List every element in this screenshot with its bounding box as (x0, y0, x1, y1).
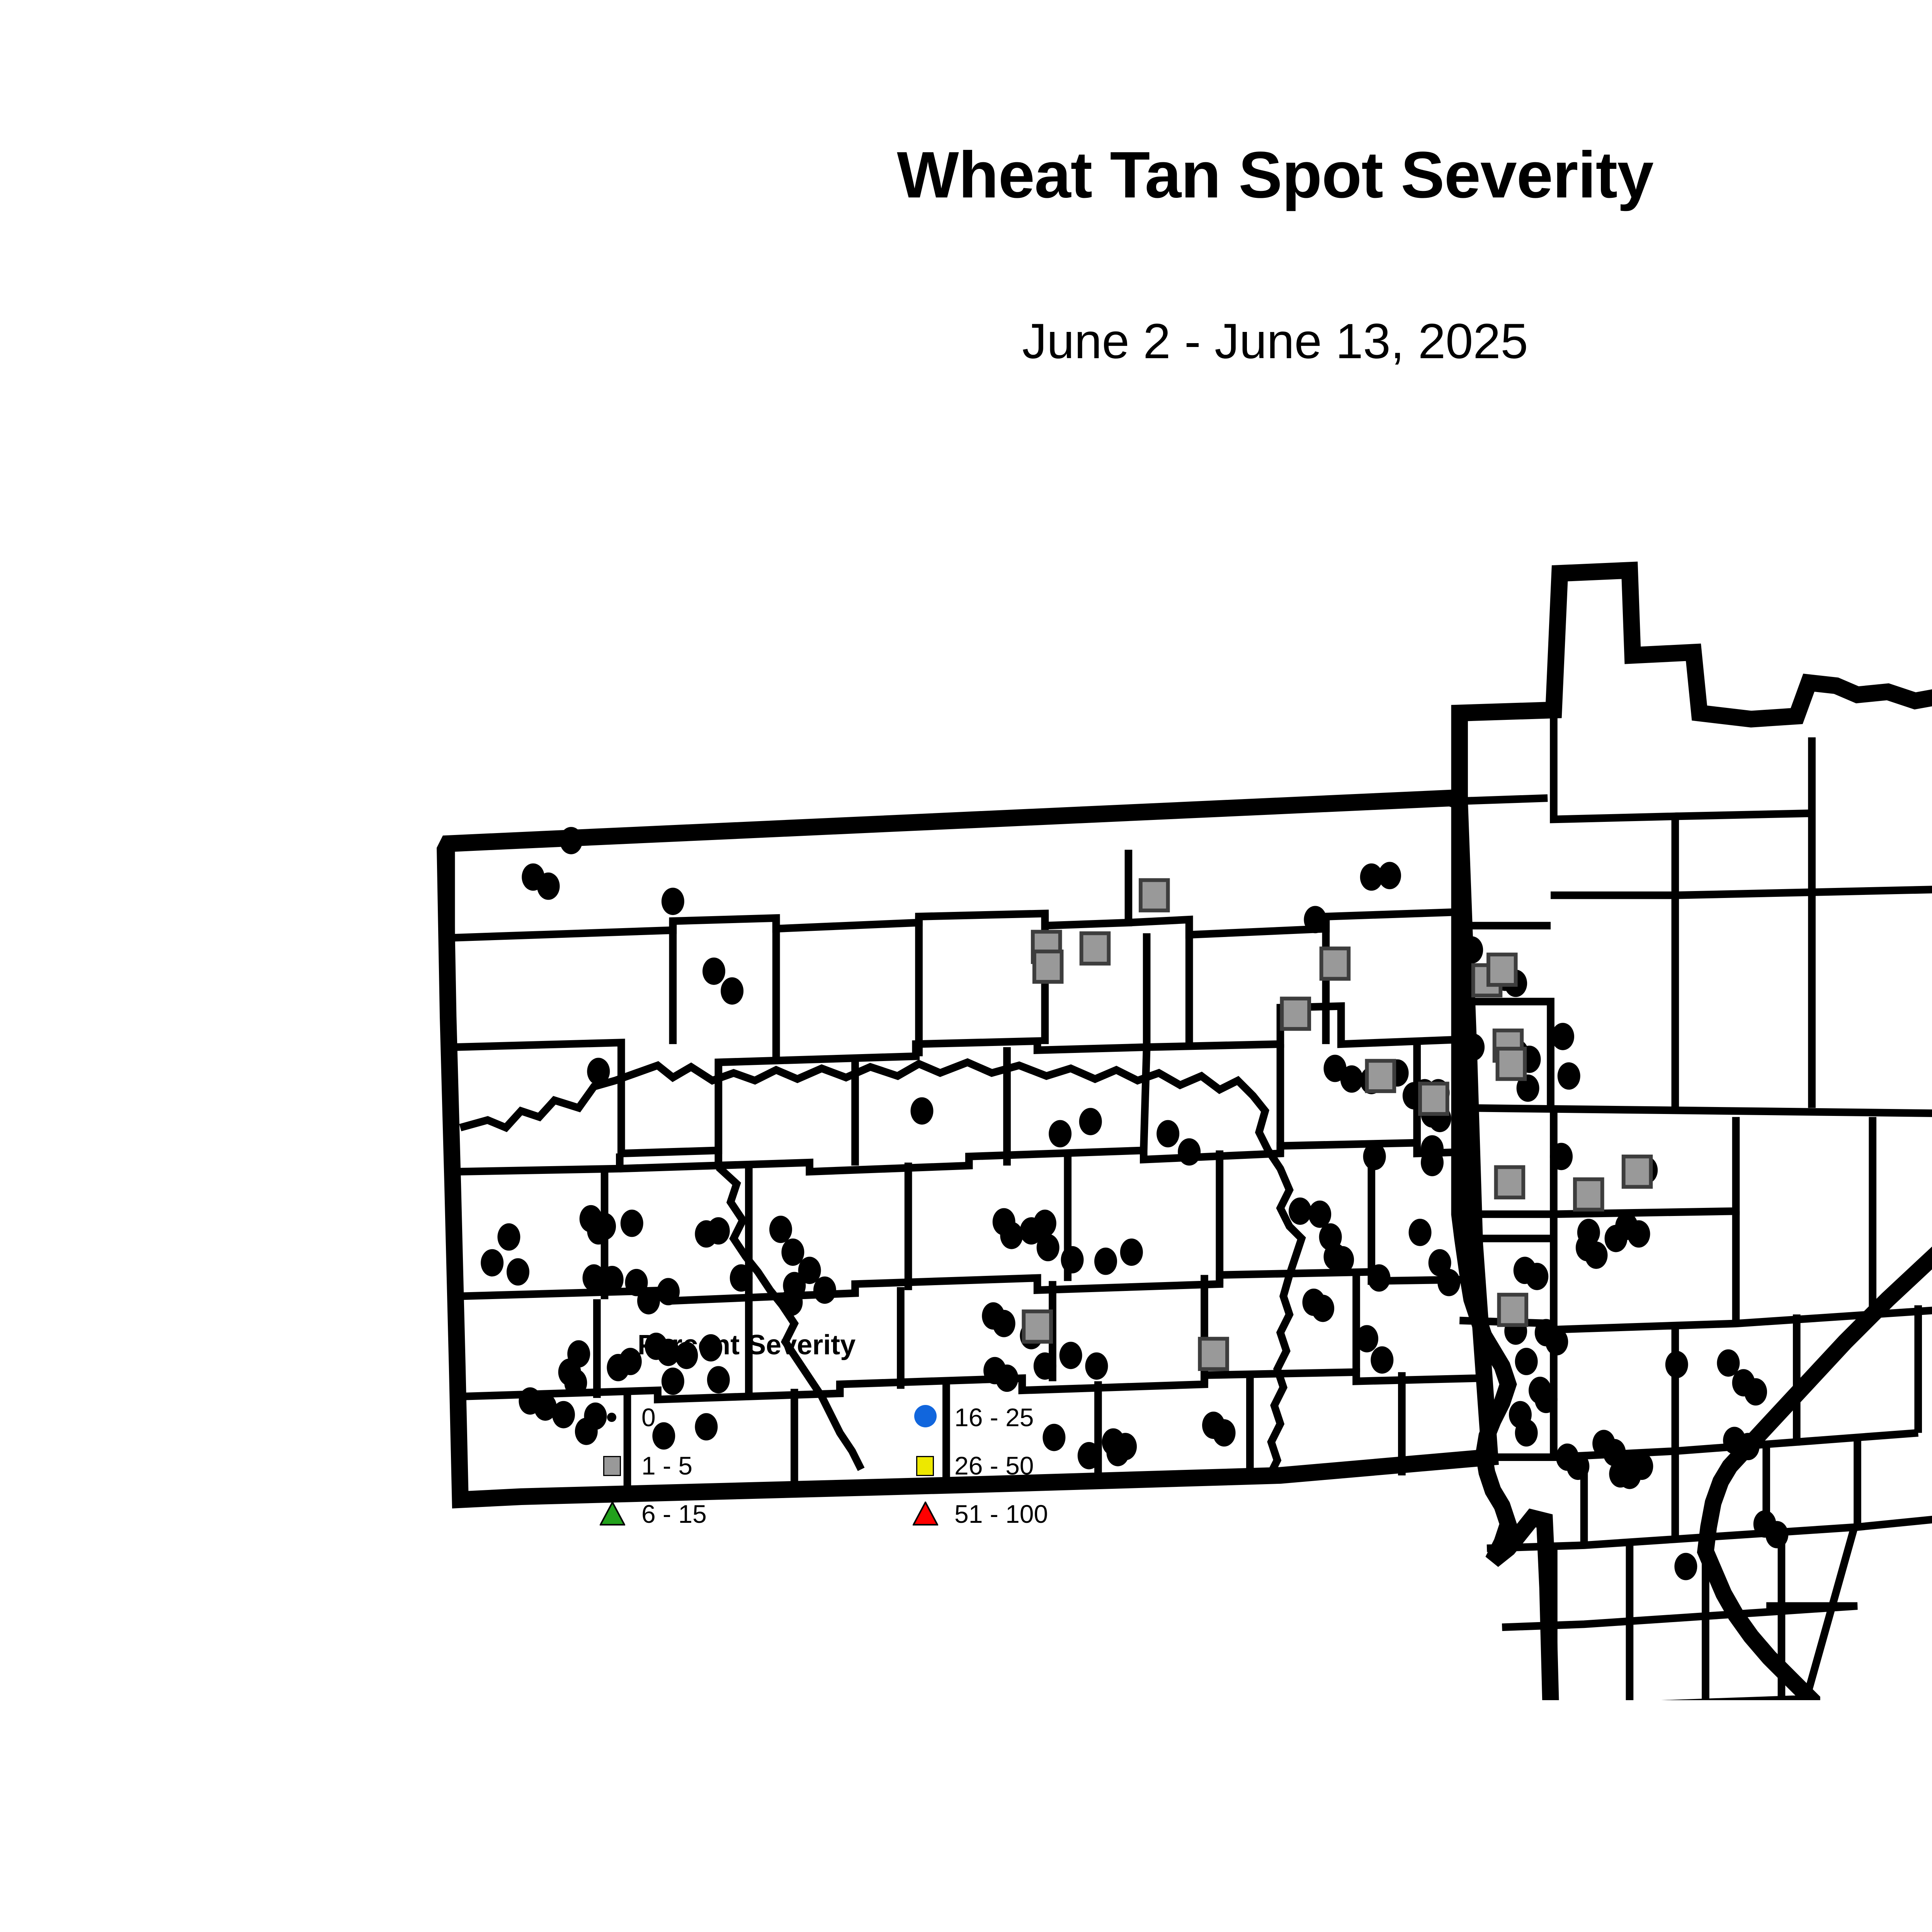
map-point-0[interactable] (1037, 1234, 1060, 1261)
map-point-0[interactable] (1156, 1120, 1179, 1148)
map-point-0[interactable] (481, 1249, 503, 1277)
map-point-0[interactable] (1409, 1219, 1432, 1246)
map-point-0[interactable] (522, 863, 544, 891)
map-point-0[interactable] (601, 1266, 624, 1293)
map-point-0[interactable] (657, 1278, 680, 1305)
map-point-0[interactable] (1304, 906, 1327, 933)
map-point-0[interactable] (1437, 1269, 1460, 1296)
legend-item-26-50[interactable]: 26 - 50 (904, 1441, 1048, 1490)
map-point-0[interactable] (1585, 1242, 1608, 1269)
map-point-1-5[interactable] (1420, 1083, 1447, 1114)
map-point-0[interactable] (1367, 1264, 1390, 1292)
map-point-0[interactable] (1535, 1386, 1558, 1413)
map-point-0[interactable] (1551, 1023, 1574, 1050)
map-point-1-5[interactable] (1367, 1061, 1395, 1091)
map-point-1-5[interactable] (1496, 1167, 1524, 1197)
map-point-0[interactable] (1421, 1149, 1444, 1176)
map-point-0[interactable] (1665, 1351, 1688, 1378)
map-point-0[interactable] (1558, 1062, 1580, 1090)
map-point-0[interactable] (507, 1258, 529, 1286)
map-point-0[interactable] (1340, 1065, 1363, 1093)
legend-label-6-15: 6 - 15 (641, 1499, 707, 1529)
map-point-0[interactable] (721, 977, 743, 1005)
map-point-1-5[interactable] (1082, 933, 1109, 964)
map-point-1-5[interactable] (1499, 1295, 1526, 1325)
legend-item-0[interactable]: 0 (591, 1393, 707, 1441)
map-point-0[interactable] (662, 888, 684, 915)
legend-label-26-50: 26 - 50 (954, 1451, 1034, 1480)
map-point-0[interactable] (1363, 1143, 1386, 1170)
map-point-0[interactable] (560, 827, 583, 854)
legend-symbol-blue-circle-icon (904, 1398, 951, 1437)
map-point-0[interactable] (1000, 1222, 1023, 1249)
page-root: Wheat Tan Spot Severity June 2 - June 13… (0, 0, 1932, 1932)
legend-item-16-25[interactable]: 16 - 25 (904, 1393, 1048, 1441)
map-point-0[interactable] (1178, 1138, 1201, 1166)
map-point-0[interactable] (564, 1369, 587, 1396)
legend-symbol-red-triangle-icon (904, 1495, 951, 1533)
legend-symbol-dot-icon (591, 1398, 638, 1437)
map-point-0[interactable] (1061, 1246, 1084, 1274)
legend-column-right: 16 - 25 26 - 50 51 - 100 (904, 1393, 1048, 1538)
legend-item-51-100[interactable]: 51 - 100 (904, 1490, 1048, 1538)
map-point-0[interactable] (730, 1264, 753, 1292)
map-point-1-5[interactable] (1141, 880, 1168, 911)
map-point-0[interactable] (1311, 1295, 1334, 1322)
map-point-1-5[interactable] (1498, 1049, 1525, 1079)
map-point-0[interactable] (1460, 936, 1483, 964)
map-point-0[interactable] (813, 1276, 836, 1304)
map-point-1-5[interactable] (1624, 1156, 1651, 1187)
map-point-0[interactable] (702, 957, 725, 985)
legend-column-left: 0 1 - 5 6 - 15 (591, 1393, 707, 1538)
map-point-1-5[interactable] (1282, 998, 1309, 1029)
minnesota-counties (1459, 570, 1932, 1700)
map-point-0[interactable] (1515, 1419, 1538, 1447)
map-point-0[interactable] (1765, 1521, 1788, 1548)
legend: Percent Severity 0 1 - 5 (638, 1329, 1148, 1569)
map-point-0[interactable] (1120, 1238, 1143, 1266)
legend-label-51-100: 51 - 100 (954, 1499, 1048, 1529)
map-point-0[interactable] (1462, 1034, 1485, 1061)
map-point-0[interactable] (707, 1217, 730, 1245)
map-point-0[interactable] (769, 1216, 792, 1243)
map-point-0[interactable] (552, 1401, 575, 1429)
map-point-0[interactable] (910, 1097, 933, 1125)
map-point-0[interactable] (1737, 1433, 1760, 1460)
legend-label-1-5: 1 - 5 (641, 1451, 692, 1480)
map-point-0[interactable] (1079, 1108, 1102, 1135)
map-point-0[interactable] (1371, 1346, 1393, 1374)
legend-item-1-5[interactable]: 1 - 5 (591, 1441, 707, 1490)
legend-symbol-yellow-square-icon (904, 1446, 951, 1485)
legend-item-6-15[interactable]: 6 - 15 (591, 1490, 707, 1538)
map-point-0[interactable] (1550, 1143, 1573, 1170)
map-point-0[interactable] (780, 1289, 803, 1316)
legend-symbol-gray-square-icon (591, 1446, 638, 1485)
map-point-0[interactable] (1355, 1325, 1378, 1352)
map-point-0[interactable] (1545, 1328, 1568, 1355)
map-point-1-5[interactable] (1034, 951, 1062, 982)
map-point-1-5[interactable] (1488, 954, 1516, 985)
map-point-0[interactable] (1526, 1263, 1548, 1290)
map-point-0[interactable] (1213, 1419, 1236, 1447)
map-point-0[interactable] (1094, 1248, 1117, 1275)
page-title: Wheat Tan Spot Severity (0, 137, 1932, 213)
map-point-0[interactable] (1515, 1348, 1538, 1375)
page-subtitle: June 2 - June 13, 2025 (0, 313, 1932, 370)
map-point-0[interactable] (637, 1287, 660, 1315)
map-point-0[interactable] (1618, 1462, 1641, 1489)
map-point-0[interactable] (621, 1210, 643, 1237)
map-point-1-5[interactable] (1200, 1339, 1227, 1369)
map-point-0[interactable] (1744, 1378, 1767, 1406)
legend-symbol-green-triangle-icon (591, 1495, 638, 1533)
map-point-0[interactable] (1378, 862, 1401, 889)
map-point-0[interactable] (593, 1213, 616, 1240)
legend-label-0: 0 (641, 1403, 656, 1432)
legend-label-16-25: 16 - 25 (954, 1403, 1034, 1432)
map-point-0[interactable] (1331, 1246, 1354, 1274)
map-point-0[interactable] (1289, 1197, 1311, 1225)
map-point-0[interactable] (1049, 1120, 1071, 1148)
map-point-1-5[interactable] (1575, 1179, 1602, 1210)
map-point-1-5[interactable] (1321, 949, 1349, 979)
map-point-0[interactable] (1674, 1553, 1697, 1580)
map-point-0[interactable] (497, 1223, 520, 1251)
map-point-0[interactable] (587, 1058, 610, 1085)
map-point-0[interactable] (1566, 1452, 1589, 1480)
legend-title: Percent Severity (638, 1329, 855, 1361)
map-point-0[interactable] (1628, 1220, 1650, 1248)
map-point-0[interactable] (1034, 1210, 1056, 1237)
